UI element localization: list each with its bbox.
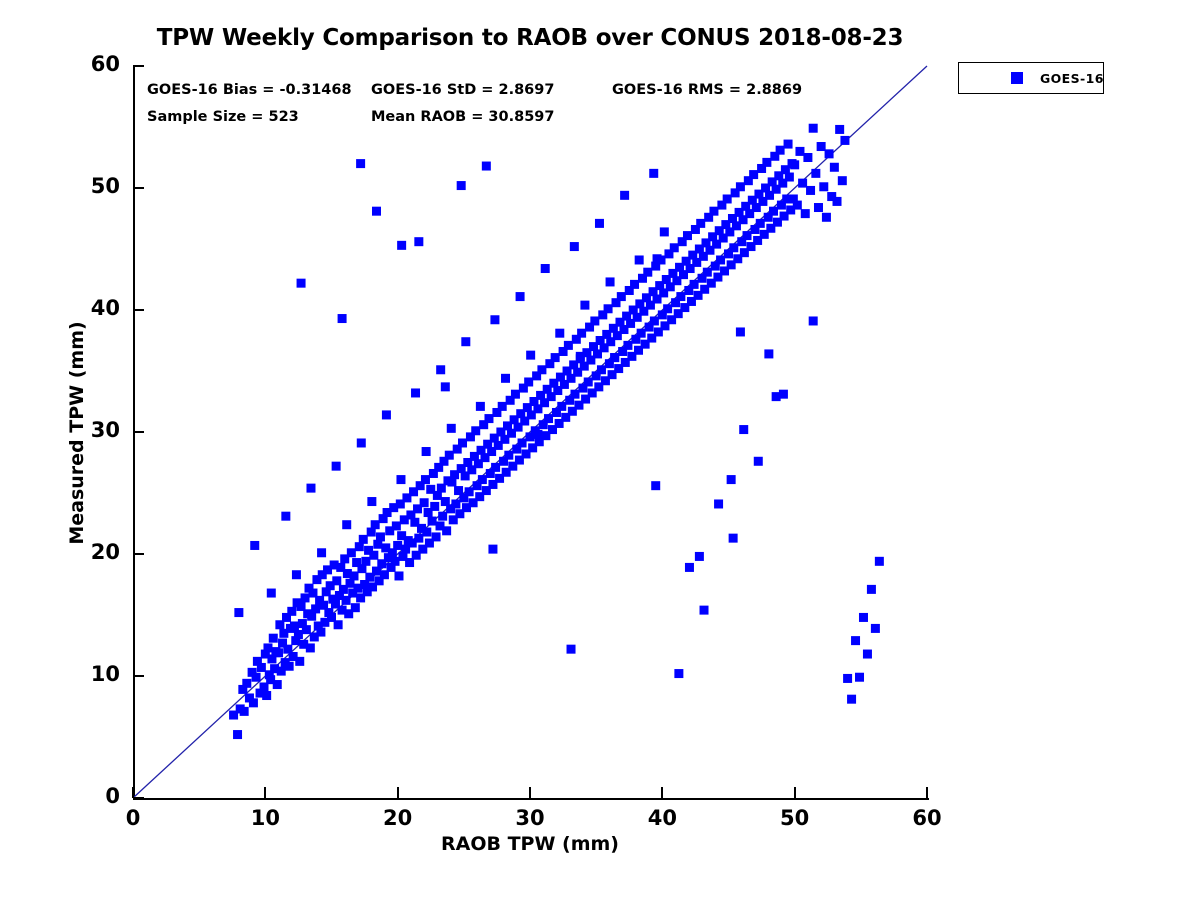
x-tick-label-60: 60 (887, 806, 967, 830)
legend-swatch-goes16 (1011, 72, 1023, 84)
x-tick-30 (529, 787, 531, 798)
stat-std: GOES-16 StD = 2.8697 (371, 82, 554, 98)
y-tick-50 (133, 187, 144, 189)
y-tick-20 (133, 553, 144, 555)
plot-area (133, 66, 927, 798)
x-tick-10 (264, 787, 266, 798)
y-tick-30 (133, 431, 144, 433)
x-tick-label-0: 0 (93, 806, 173, 830)
chart-figure: TPW Weekly Comparison to RAOB over CONUS… (0, 0, 1200, 900)
x-axis-spine (133, 798, 929, 800)
y-tick-10 (133, 675, 144, 677)
x-tick-label-20: 20 (358, 806, 438, 830)
x-tick-0 (132, 787, 134, 798)
x-axis-label: RAOB TPW (mm) (133, 833, 927, 855)
y-tick-60 (133, 65, 144, 67)
stat-rms: GOES-16 RMS = 2.8869 (612, 82, 802, 98)
x-tick-label-30: 30 (490, 806, 570, 830)
x-tick-60 (926, 787, 928, 798)
stat-sample-size: Sample Size = 523 (147, 109, 299, 125)
stat-mean-raob: Mean RAOB = 30.8597 (371, 109, 554, 125)
x-tick-20 (397, 787, 399, 798)
x-tick-40 (661, 787, 663, 798)
page-title: TPW Weekly Comparison to RAOB over CONUS… (0, 25, 1060, 51)
y-tick-40 (133, 309, 144, 311)
legend-label-goes16: GOES-16 (1040, 71, 1104, 86)
x-tick-label-50: 50 (755, 806, 835, 830)
x-tick-label-10: 10 (225, 806, 305, 830)
y-axis-label: Measured TPW (mm) (66, 66, 88, 800)
x-tick-label-40: 40 (622, 806, 702, 830)
x-tick-50 (794, 787, 796, 798)
y-tick-0 (133, 797, 144, 799)
stat-bias: GOES-16 Bias = -0.31468 (147, 82, 352, 98)
